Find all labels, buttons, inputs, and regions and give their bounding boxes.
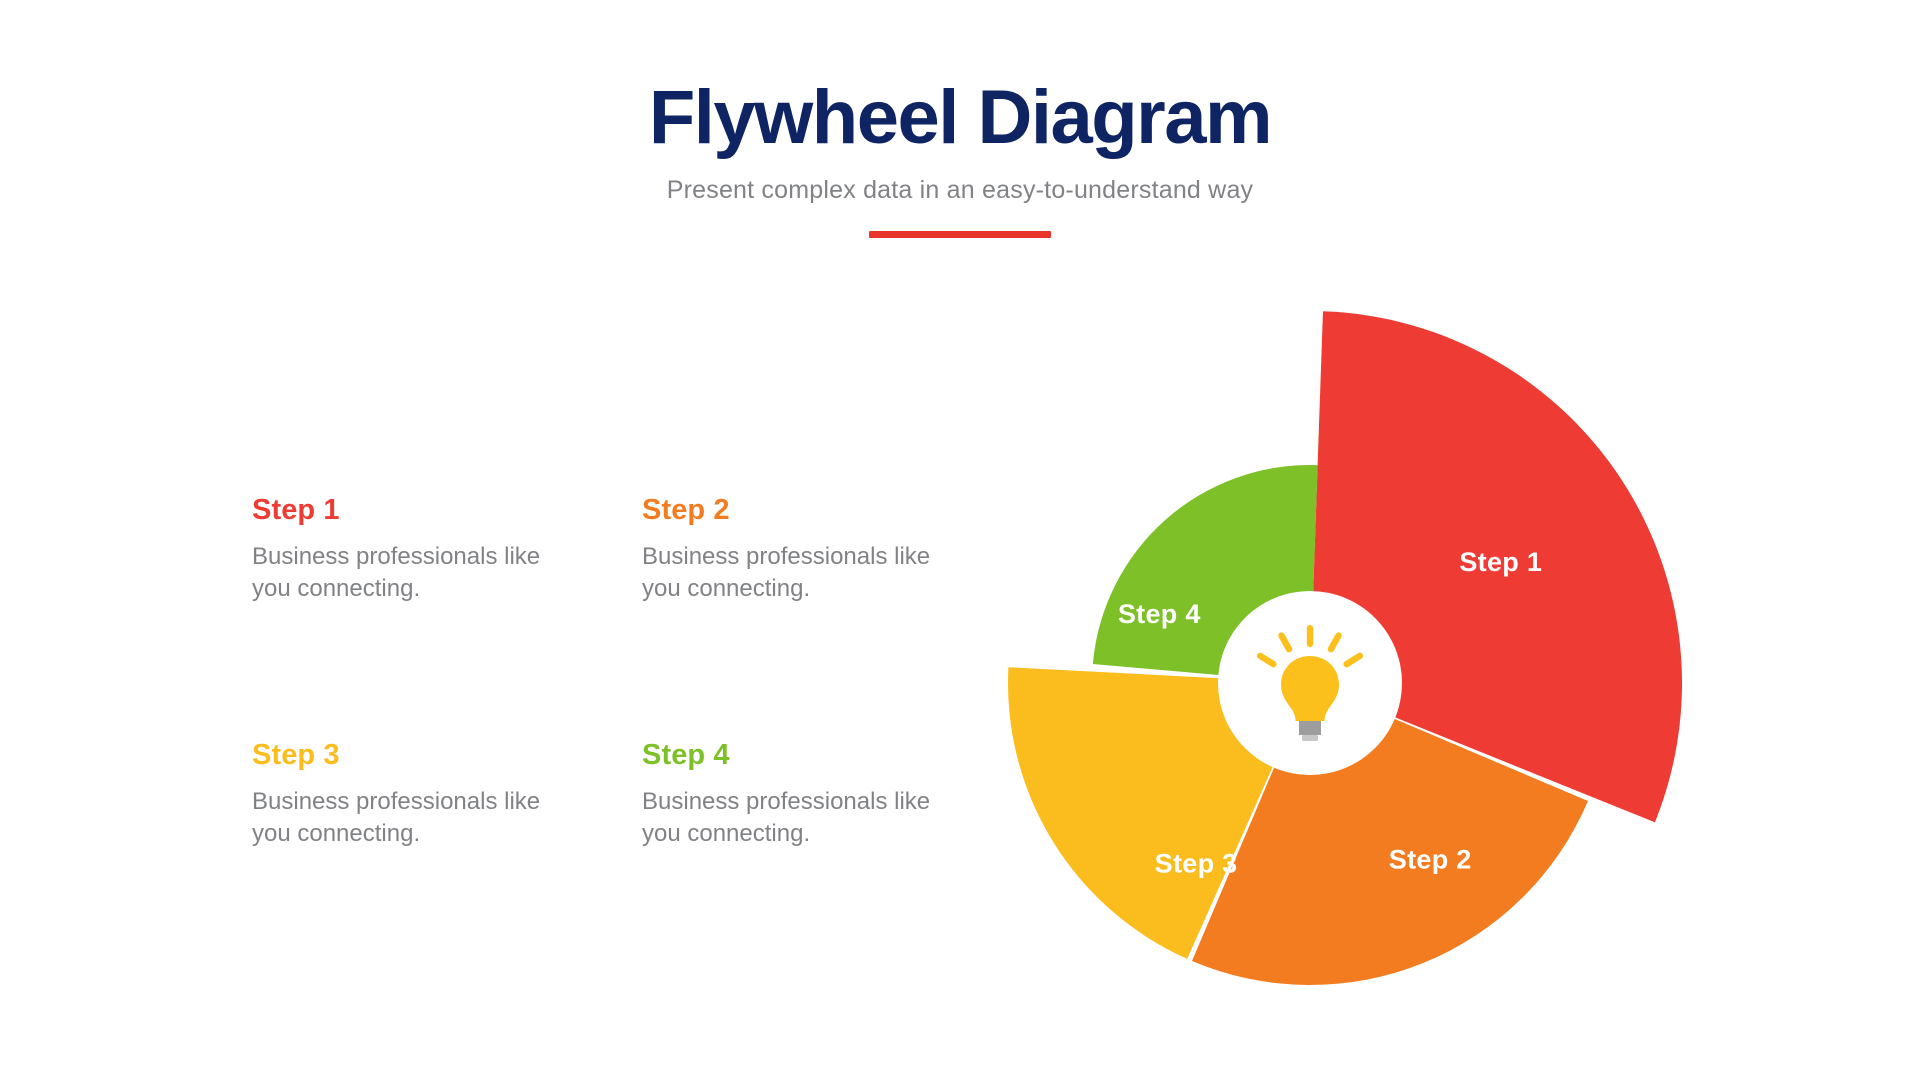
lightbulb-ray-3 [1307,625,1313,647]
center-hub [1218,591,1402,775]
title-divider [869,231,1051,238]
legend-item-step-3: Step 3 Business professionals like you c… [252,740,572,851]
sector-label-step-2: Step 2 [1389,844,1472,874]
header: Flywheel Diagram Present complex data in… [0,0,1920,238]
flywheel-svg: Step 1Step 2Step 3Step 4 [960,290,1760,1080]
legend-body-step-4: Business professionals like you connecti… [642,772,942,851]
legend-heading-step-3: Step 3 [252,740,572,772]
sector-label-step-1: Step 1 [1459,547,1542,577]
legend-heading-step-4: Step 4 [642,740,962,772]
sector-label-step-3: Step 3 [1155,848,1238,878]
legend-item-step-2: Step 2 Business professionals like you c… [642,495,962,740]
legend-body-step-2: Business professionals like you connecti… [642,527,942,606]
legend-body-step-3: Business professionals like you connecti… [252,772,552,851]
legend-item-step-1: Step 1 Business professionals like you c… [252,495,572,740]
page-subtitle: Present complex data in an easy-to-under… [0,158,1920,205]
legend-heading-step-1: Step 1 [252,495,572,527]
legend-heading-step-2: Step 2 [642,495,962,527]
legend-item-step-4: Step 4 Business professionals like you c… [642,740,962,851]
flywheel-chart: Step 1Step 2Step 3Step 4 [960,290,1760,1080]
lightbulb-base [1299,721,1321,735]
page-title: Flywheel Diagram [0,0,1920,158]
sector-label-step-4: Step 4 [1118,599,1201,629]
lightbulb-base-foot [1302,735,1318,741]
legend-body-step-1: Business professionals like you connecti… [252,527,552,606]
step-legend-grid: Step 1 Business professionals like you c… [252,495,972,851]
